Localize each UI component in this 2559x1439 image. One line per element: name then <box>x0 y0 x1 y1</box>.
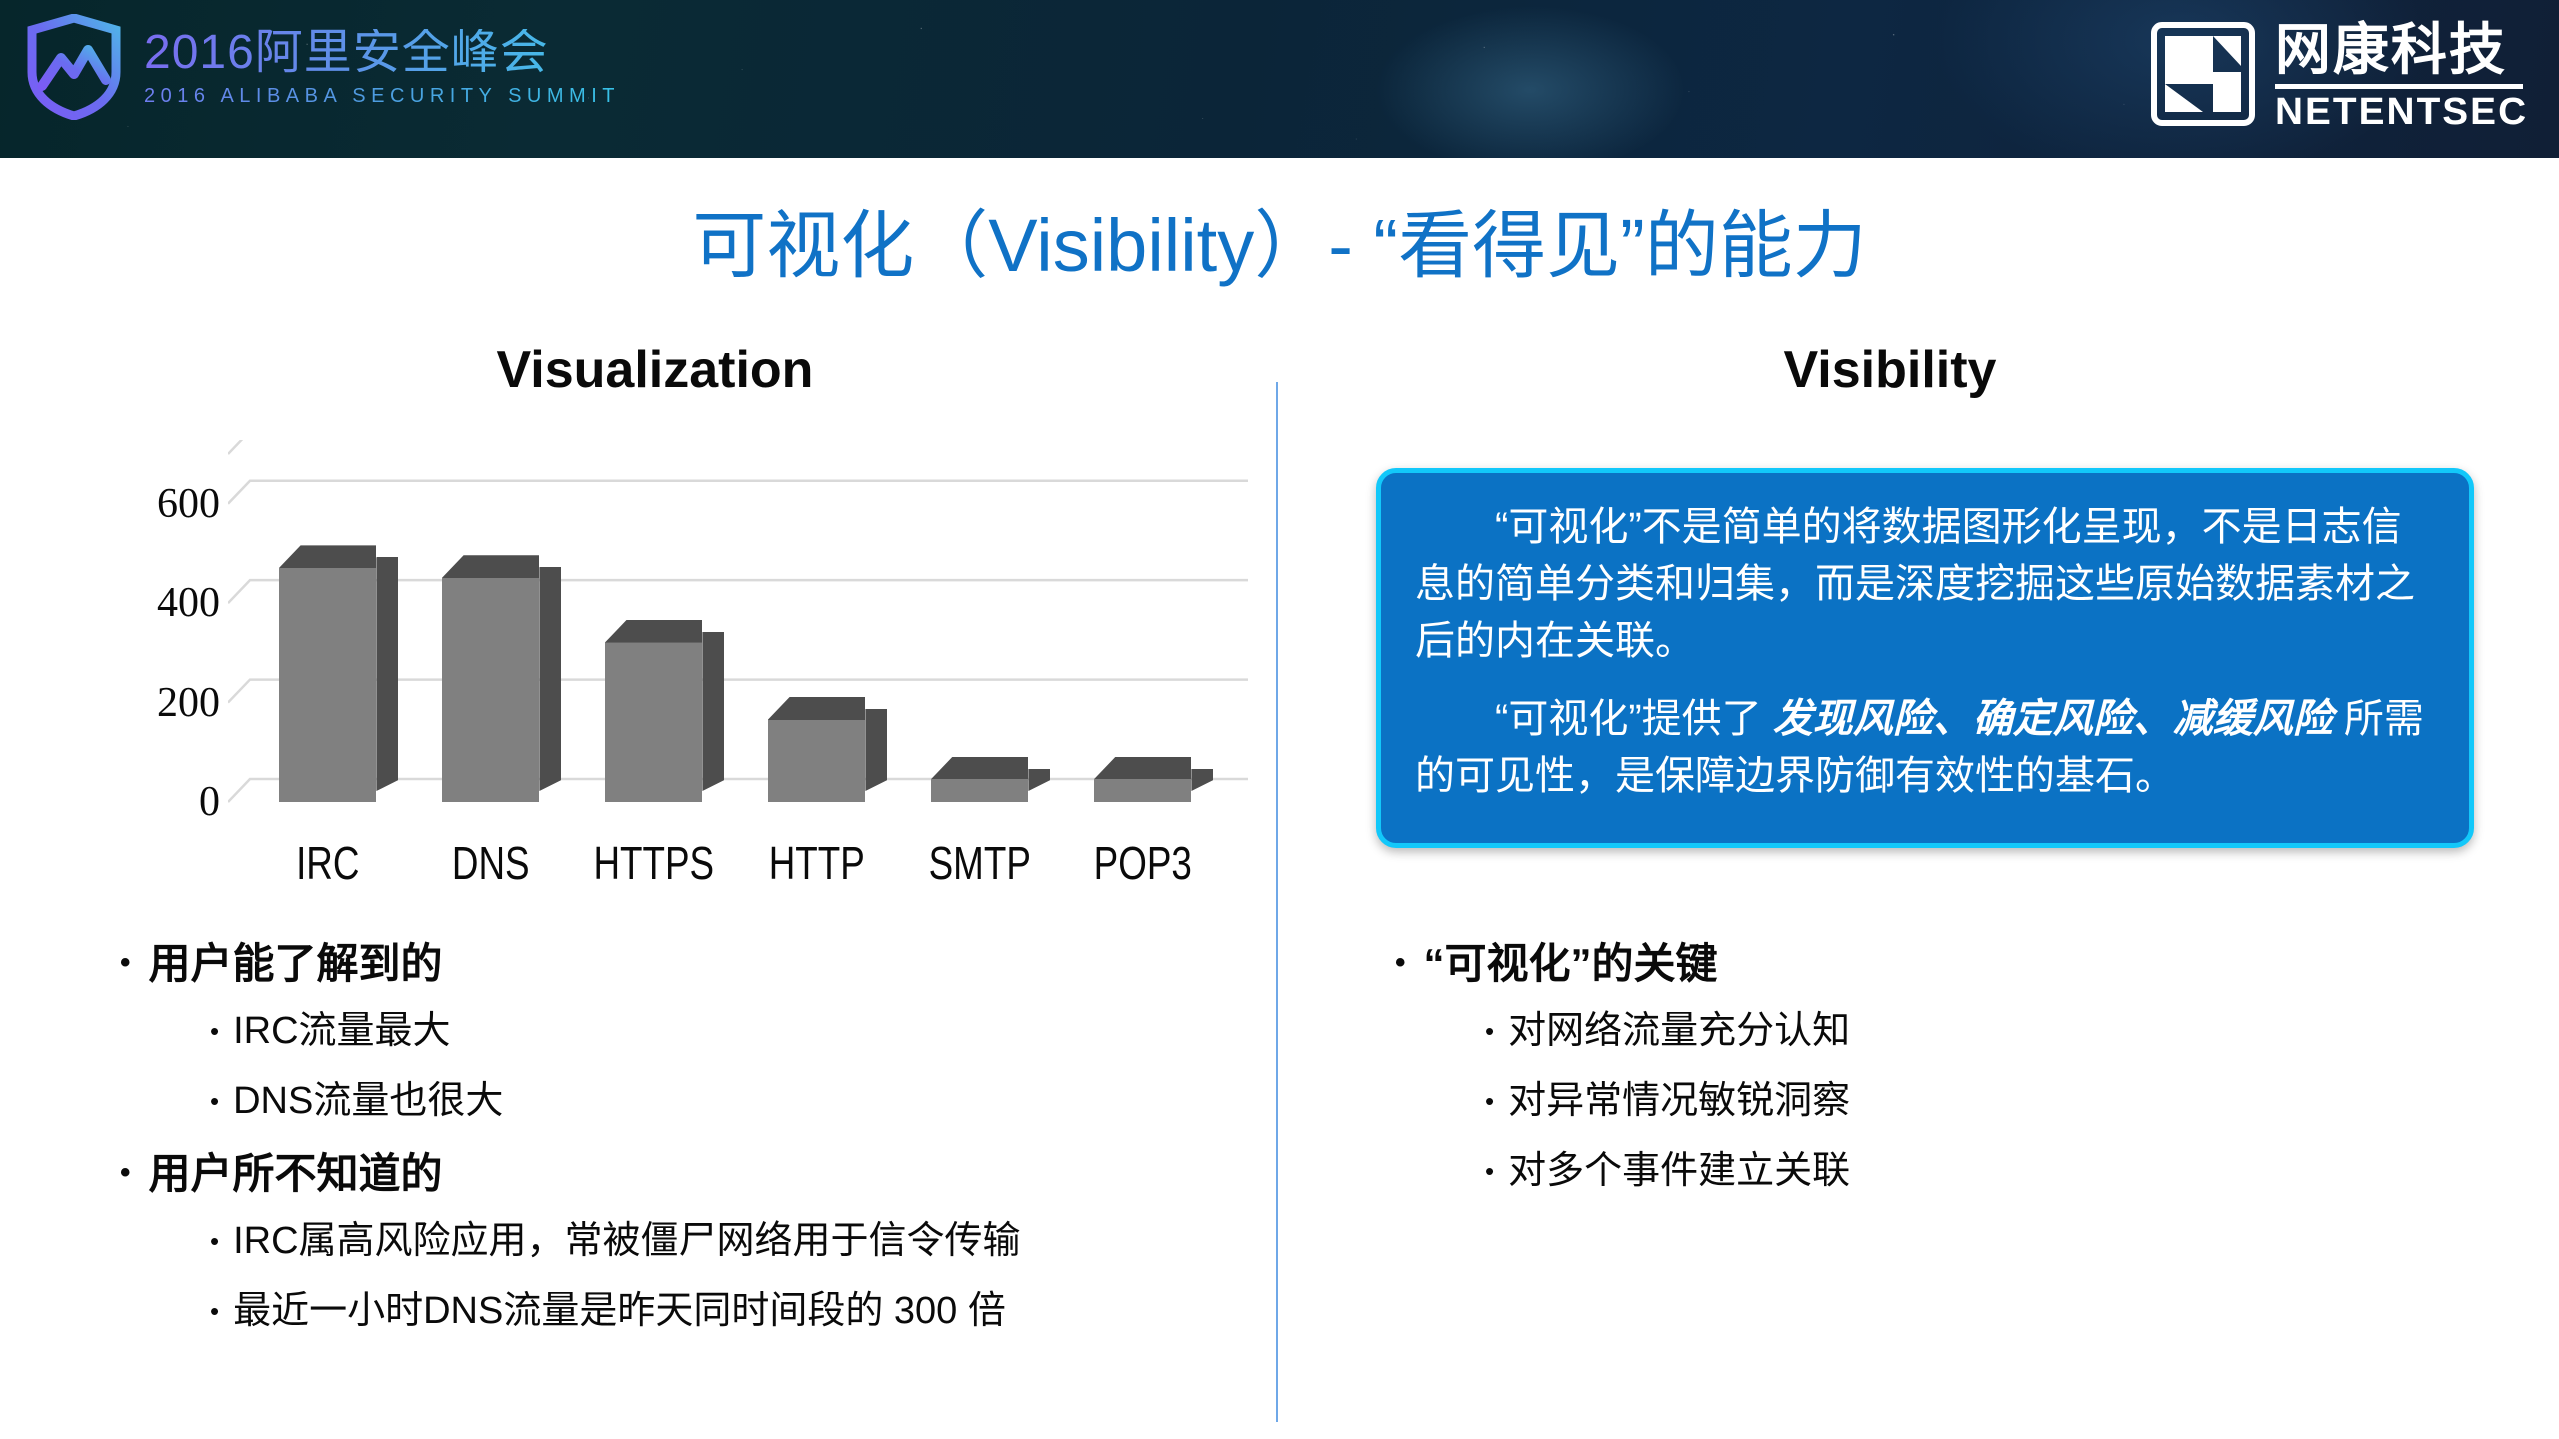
brand-logo: 网康科技 NETENTSEC <box>2151 22 2523 131</box>
brand-name-en: NETENTSEC <box>2275 93 2528 131</box>
brand-divider <box>2275 84 2523 89</box>
column-divider <box>1276 382 1278 1422</box>
chart-bar-top <box>931 757 1029 780</box>
slide-title: 可视化（Visibility）- “看得见”的能力 <box>0 186 2559 293</box>
bullet-dot-icon: • <box>1485 1158 1494 1184</box>
chart-y-tick-label: 400 <box>100 579 220 627</box>
summit-title-en: 2016 ALIBABA SECURITY SUMMIT <box>144 86 620 106</box>
chart-bar-side <box>539 567 561 791</box>
chart-bar-top <box>442 555 540 578</box>
visualization-heading: Visualization <box>80 340 1230 400</box>
chart-bar-side <box>376 557 398 791</box>
chart-x-tick-label: HTTP <box>749 836 885 890</box>
bullet-dot-icon: • <box>120 948 131 978</box>
bullet-dot-icon: • <box>210 1228 219 1254</box>
chart-x-tick-label: IRC <box>260 836 396 890</box>
chart-plot-area <box>228 440 1248 830</box>
chart-bar <box>768 720 866 802</box>
bullet-level2: •对异常情况敏锐洞察 <box>1395 1080 2475 1124</box>
bullet-text: 最近一小时DNS流量是昨天同时间段的 300 倍 <box>233 1290 1006 1334</box>
netentsec-square-mark-icon <box>2151 22 2255 131</box>
left-bullet-list: •用户能了解到的•IRC流量最大•DNS流量也很大•用户所不知道的•IRC属高风… <box>120 940 1260 1359</box>
chart-bar <box>442 578 540 802</box>
chart-bar-front <box>605 643 703 802</box>
visibility-heading: Visibility <box>1300 340 2480 400</box>
callout-paragraph-1: “可视化”不是简单的将数据图形化呈现，不是日志信息的简单分类和归集，而是深度挖掘… <box>1415 499 2435 669</box>
callout-p2-emphasis: 发现风险、确定风险、减缓风险 <box>1773 697 2333 741</box>
chart-y-tick-label: 600 <box>100 480 220 528</box>
bullet-text: 对异常情况敏锐洞察 <box>1508 1080 1850 1124</box>
bullet-dot-icon: • <box>1395 948 1406 978</box>
chart-bar-side <box>1028 769 1050 791</box>
chart-bar <box>1094 780 1192 802</box>
protocol-traffic-bar-chart: 0200400600 IRCDNSHTTPSHTTPSMTPPOP3 <box>100 440 1260 890</box>
chart-x-tick-label: SMTP <box>912 836 1048 890</box>
bullet-dot-icon: • <box>120 1158 131 1188</box>
chart-bar <box>605 643 703 802</box>
bullet-text: DNS流量也很大 <box>233 1080 503 1124</box>
bullet-level2: •IRC属高风险应用，常被僵尸网络用于信令传输 <box>120 1220 1260 1264</box>
chart-bar-top <box>279 545 377 568</box>
bullet-level1: •用户能了解到的 <box>120 940 1260 988</box>
summit-title-cn: 2016阿里安全峰会 <box>144 29 620 77</box>
chart-x-tick-label: HTTPS <box>586 836 722 890</box>
bullet-dot-icon: • <box>210 1088 219 1114</box>
chart-bar-top <box>768 697 866 720</box>
bullet-text: 对多个事件建立关联 <box>1508 1150 1850 1194</box>
chart-bar-front <box>768 720 866 802</box>
callout-p2-pre: “可视化”提供了 <box>1495 697 1773 741</box>
chart-bar <box>931 780 1029 802</box>
bullet-text: 用户能了解到的 <box>149 940 443 988</box>
bullet-level2: •对多个事件建立关联 <box>1395 1150 2475 1194</box>
bullet-level2: •最近一小时DNS流量是昨天同时间段的 300 倍 <box>120 1290 1260 1334</box>
bullet-dot-icon: • <box>210 1298 219 1324</box>
callout-paragraph-2: “可视化”提供了 发现风险、确定风险、减缓风险 所需的可见性，是保障边界防御有效… <box>1415 691 2435 805</box>
chart-bar-front <box>931 780 1029 802</box>
bullet-text: 对网络流量充分认知 <box>1508 1010 1850 1054</box>
chart-bar <box>279 568 377 802</box>
bullet-level2: •对网络流量充分认知 <box>1395 1010 2475 1054</box>
chart-x-tick-label: DNS <box>423 836 559 890</box>
chart-y-tick-label: 200 <box>100 679 220 727</box>
chart-x-axis: IRCDNSHTTPSHTTPSMTPPOP3 <box>228 836 1248 906</box>
chart-bar-front <box>1094 780 1192 802</box>
header-band: 2016阿里安全峰会 2016 ALIBABA SECURITY SUMMIT … <box>0 0 2559 158</box>
right-bullet-list: •“可视化”的关键•对网络流量充分认知•对异常情况敏锐洞察•对多个事件建立关联 <box>1395 940 2475 1219</box>
chart-bar-side <box>702 632 724 791</box>
chart-bars <box>228 440 1248 830</box>
chart-x-tick-label: POP3 <box>1075 836 1211 890</box>
brand-name-cn: 网康科技 <box>2275 22 2523 78</box>
bullet-text: “可视化”的关键 <box>1424 940 1718 988</box>
chart-bar-side <box>865 709 887 791</box>
bullet-text: IRC属高风险应用，常被僵尸网络用于信令传输 <box>233 1220 1020 1264</box>
chart-bar-front <box>279 568 377 802</box>
bullet-dot-icon: • <box>210 1018 219 1044</box>
chart-bar-top <box>605 620 703 643</box>
chart-bar-top <box>1094 757 1192 780</box>
summit-logo: 2016阿里安全峰会 2016 ALIBABA SECURITY SUMMIT <box>26 14 620 120</box>
bullet-text: IRC流量最大 <box>233 1010 450 1054</box>
bullet-level2: •DNS流量也很大 <box>120 1080 1260 1124</box>
bullet-level2: •IRC流量最大 <box>120 1010 1260 1054</box>
chart-bar-side <box>1191 769 1213 791</box>
bullet-level1: •“可视化”的关键 <box>1395 940 2475 988</box>
bullet-dot-icon: • <box>1485 1018 1494 1044</box>
shield-mountain-icon <box>26 14 122 120</box>
chart-y-axis: 0200400600 <box>100 440 220 830</box>
bullet-dot-icon: • <box>1485 1088 1494 1114</box>
chart-bar-front <box>442 578 540 802</box>
bullet-text: 用户所不知道的 <box>149 1150 443 1198</box>
chart-y-tick-label: 0 <box>100 778 220 826</box>
visibility-callout-box: “可视化”不是简单的将数据图形化呈现，不是日志信息的简单分类和归集，而是深度挖掘… <box>1376 468 2474 848</box>
bullet-level1: •用户所不知道的 <box>120 1150 1260 1198</box>
